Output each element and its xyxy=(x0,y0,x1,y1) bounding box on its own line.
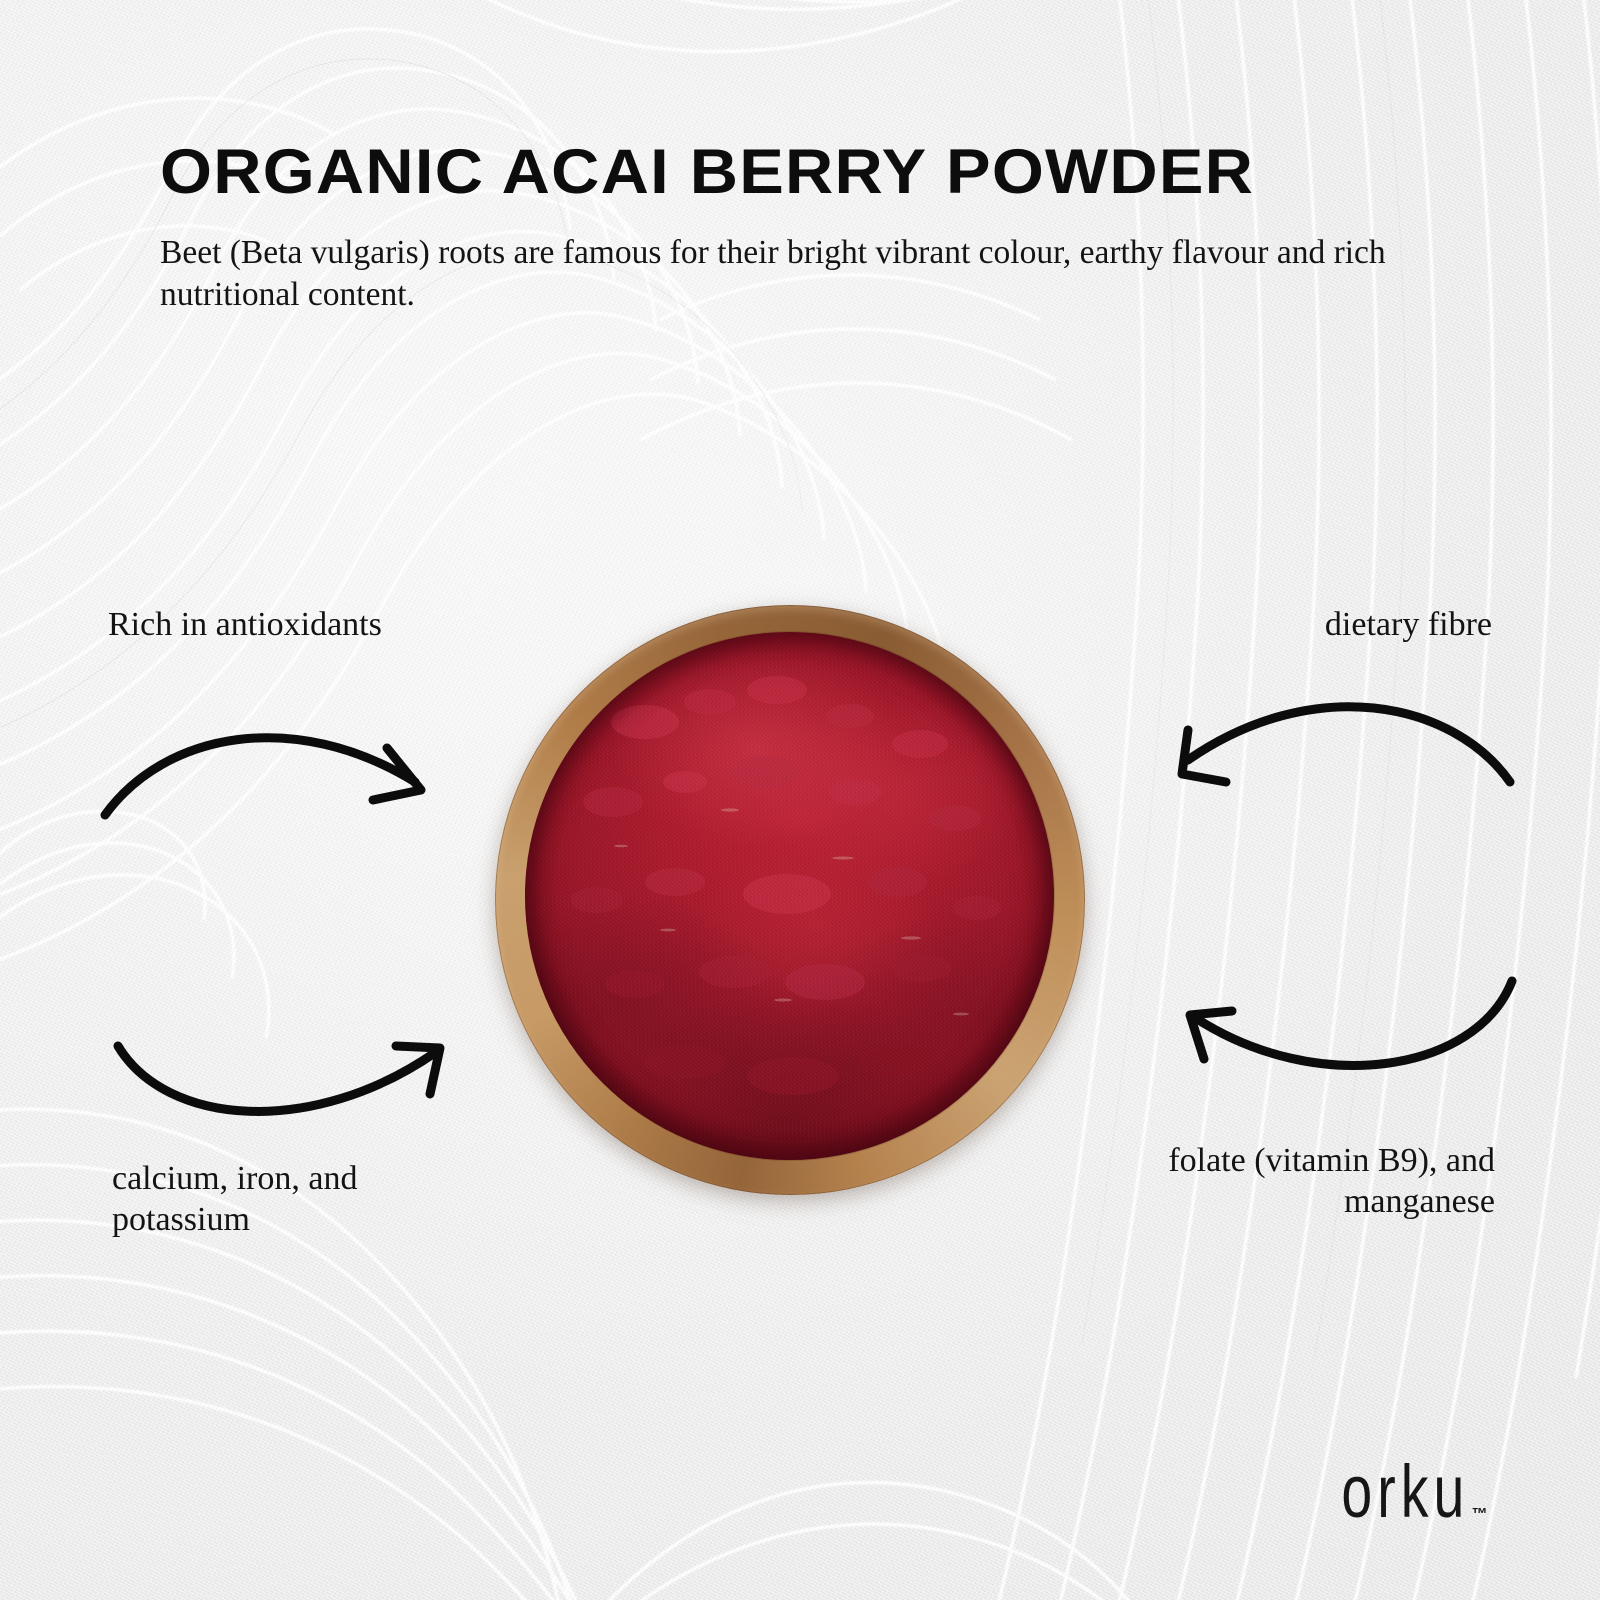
brand-wordmark: orku xyxy=(1341,1454,1469,1528)
callout-arrow-bottom-left xyxy=(100,998,460,1138)
brand-logo[interactable]: orku ™ xyxy=(1317,1462,1488,1528)
callout-arrow-bottom-right xyxy=(1140,955,1520,1095)
trademark-icon: ™ xyxy=(1472,1506,1489,1524)
callout-label-top-right: dietary fibre xyxy=(1325,604,1492,645)
infographic-page: ORGANIC ACAI BERRY POWDER Beet (Beta vul… xyxy=(0,0,1600,1600)
callout-label-top-left: Rich in antioxidants xyxy=(108,604,382,645)
berry-powder-fill xyxy=(525,632,1054,1160)
product-image-bowl xyxy=(495,605,1085,1195)
callout-arrow-top-right xyxy=(1140,660,1520,810)
callout-label-bottom-left: calcium, iron, and potassium xyxy=(112,1158,357,1241)
callout-arrow-top-left xyxy=(95,690,455,840)
powder-edge-shadow xyxy=(525,632,1054,1160)
callout-label-bottom-right: folate (vitamin B9), and manganese xyxy=(1168,1140,1495,1223)
page-subtitle: Beet (Beta vulgaris) roots are famous fo… xyxy=(160,232,1430,316)
page-title: ORGANIC ACAI BERRY POWDER xyxy=(160,140,1538,206)
